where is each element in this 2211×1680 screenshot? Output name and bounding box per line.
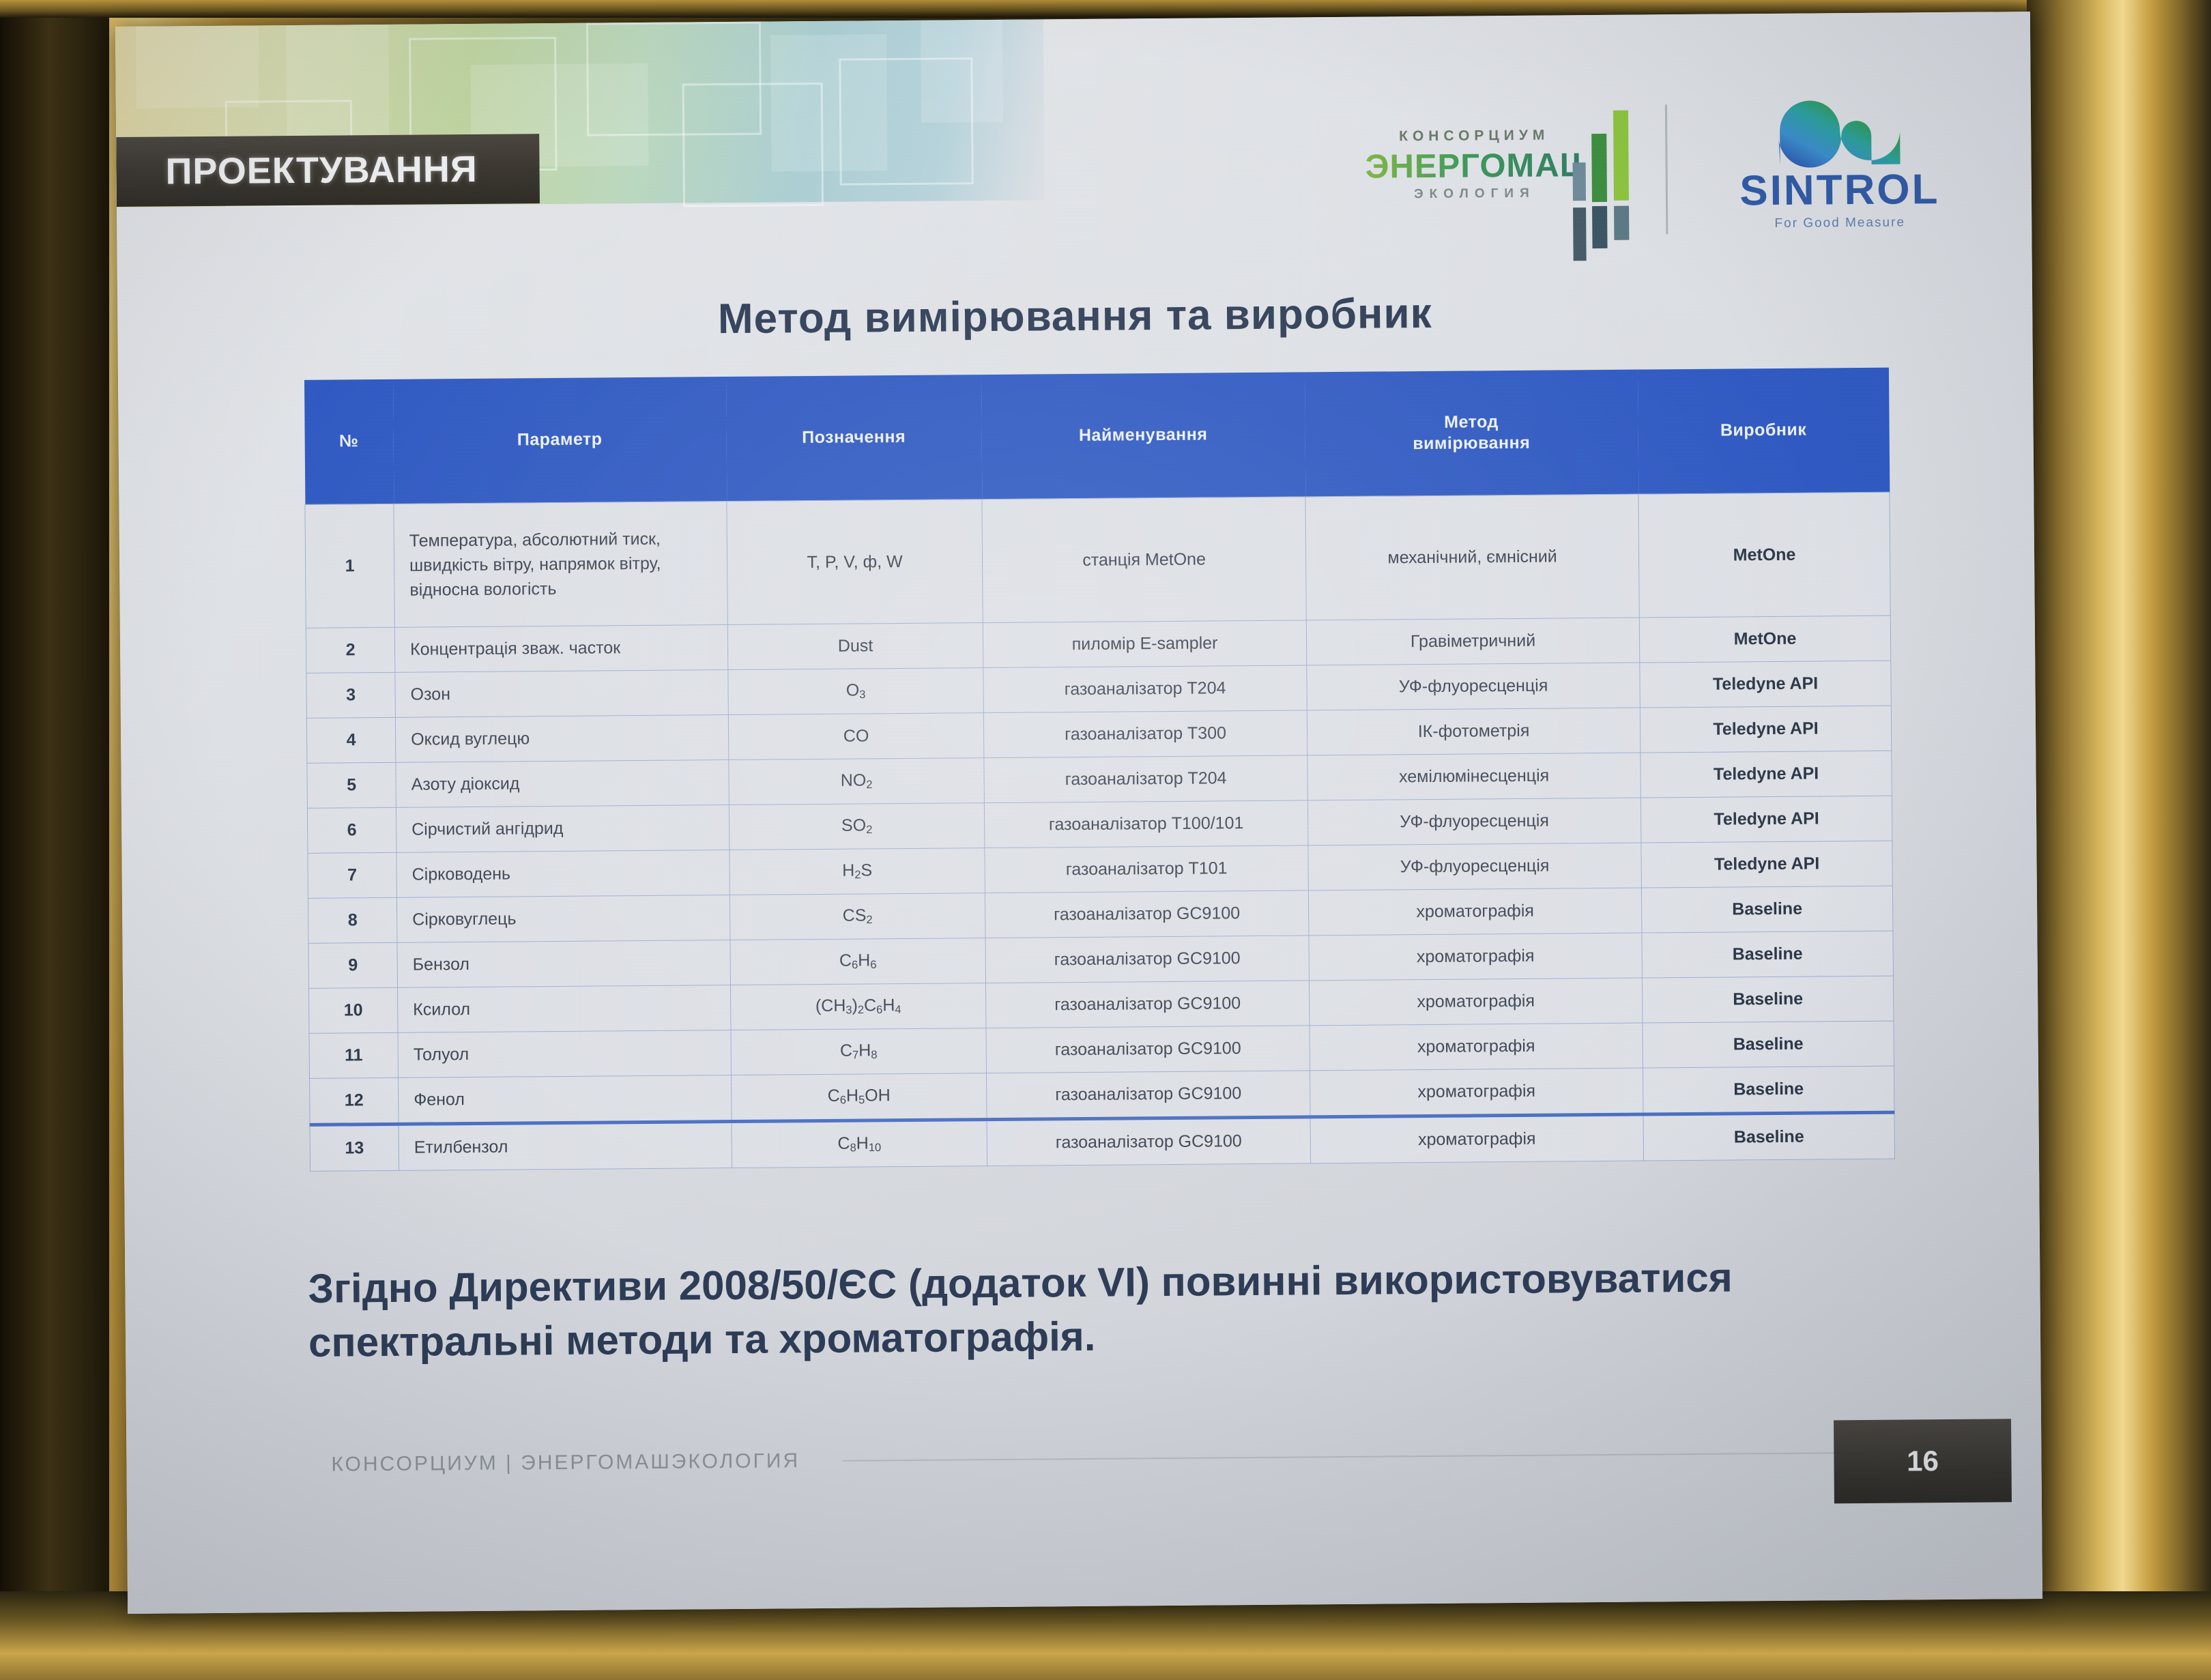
cell-param: Сірковуглець [396, 895, 730, 943]
cell-symbol: H2S [729, 848, 985, 895]
cell-method: хроматографія [1310, 1068, 1643, 1117]
frame-left-edge [0, 0, 109, 1680]
table-body: 1Температура, абсолютний тиск, швидкість… [305, 492, 1895, 1171]
cell-maker: MetOne [1638, 492, 1890, 618]
cell-method: хроматографія [1310, 1023, 1643, 1071]
frame-right-edge [2027, 0, 2211, 1680]
cell-method: УФ-флуоресценція [1308, 843, 1642, 890]
cell-name: газоаналізатор T204 [984, 755, 1308, 803]
presentation-screen: ПРОЕКТУВАННЯ КОНСОРЦИУМ ЭНЕРГОМАШ ЭКОЛОГ… [115, 12, 2042, 1614]
cell-symbol: NO2 [729, 758, 985, 805]
cell-symbol: CS2 [729, 893, 985, 940]
cell-name: пиломір E-sampler [983, 620, 1307, 668]
energomash-bars-icon [1570, 104, 1653, 248]
cell-name: газоаналізатор GC9100 [985, 936, 1310, 983]
cell-no: 11 [309, 1032, 399, 1078]
cell-maker: Baseline [1642, 976, 1894, 1023]
page-number-badge: 16 [1834, 1419, 2012, 1503]
cell-symbol: C6H6 [730, 938, 986, 985]
projected-slide-photo: ПРОЕКТУВАННЯ КОНСОРЦИУМ ЭНЕРГОМАШ ЭКОЛОГ… [0, 0, 2211, 1680]
cell-param: Концентрація зваж. часток [394, 625, 728, 673]
cell-param: Ксилол [397, 985, 731, 1033]
slide-section-ribbon: ПРОЕКТУВАННЯ [116, 134, 540, 207]
cell-maker: MetOne [1639, 615, 1891, 663]
energomash-ecology-label: ЭКОЛОГИЯ [1372, 186, 1577, 202]
cell-method: хроматографія [1308, 888, 1642, 936]
cell-maker: Teledyne API [1641, 751, 1892, 798]
energomash-konsorcium-label: КОНСОРЦИУМ [1372, 127, 1576, 145]
cell-maker: Teledyne API [1640, 706, 1892, 753]
column-header-maker: Виробник [1637, 368, 1889, 494]
sintrol-wordmark: SINTROL [1717, 165, 1963, 216]
cell-maker: Baseline [1643, 1021, 1894, 1068]
sintrol-tagline: For Good Measure [1717, 215, 1963, 232]
cell-param: Озон [395, 670, 729, 718]
cell-no: 5 [307, 762, 396, 808]
cell-maker: Baseline [1643, 1112, 1895, 1161]
cell-no: 8 [308, 897, 397, 943]
cell-no: 6 [307, 807, 396, 853]
cell-symbol: C7H8 [731, 1028, 987, 1075]
cell-no: 9 [308, 942, 398, 988]
cell-symbol: T, P, V, ф, W [727, 499, 983, 625]
cell-symbol: C8H10 [732, 1120, 987, 1168]
cell-no: 12 [310, 1077, 399, 1125]
cell-name: газоаналізатор T204 [983, 665, 1307, 713]
energomash-logo: КОНСОРЦИУМ ЭНЕРГОМАШ ЭКОЛОГИЯ [1365, 95, 1653, 254]
cell-param: Сірководень [396, 850, 730, 898]
cell-name: газоаналізатор GC9100 [985, 981, 1310, 1028]
cell-name: газоаналізатор T100/101 [984, 800, 1308, 848]
table-head: № Параметр Позначення Найменування Метод… [304, 368, 1889, 505]
energomash-wordmark: ЭНЕРГОМАШ [1365, 146, 1583, 186]
cell-maker: Baseline [1642, 931, 1894, 978]
cell-param: Оксид вуглецю [395, 715, 729, 763]
conclusion-text: Згідно Директиви 2008/50/ЄС (додаток VI)… [308, 1249, 1892, 1370]
cell-param: Етилбензол [399, 1122, 732, 1171]
cell-method: УФ-флуоресценція [1307, 663, 1641, 710]
cell-method: хроматографія [1310, 1114, 1644, 1163]
cell-method: Гравіметричний [1306, 618, 1640, 665]
column-header-param: Параметр [392, 377, 726, 504]
cell-no: 1 [305, 504, 394, 628]
cell-method: хемілюмінесценція [1307, 753, 1641, 800]
measurement-table: № Параметр Позначення Найменування Метод… [304, 368, 1895, 1172]
cell-param: Толуол [398, 1030, 732, 1078]
cell-param: Сірчистий ангідрид [396, 805, 729, 853]
cell-param: Бензол [397, 940, 731, 988]
sintrol-logo: SINTROL For Good Measure [1716, 87, 1963, 260]
cell-maker: Teledyne API [1640, 661, 1892, 708]
cell-method: механічний, ємнісний [1305, 494, 1639, 620]
cell-name: газоаналізатор T101 [985, 845, 1309, 893]
table-row: 1Температура, абсолютний тиск, швидкість… [305, 492, 1890, 628]
sintrol-arch-icon [1754, 87, 1925, 171]
table-header-row: № Параметр Позначення Найменування Метод… [304, 368, 1889, 505]
cell-symbol: (CH3)2C6H4 [730, 983, 986, 1030]
cell-maker: Teledyne API [1641, 841, 1893, 888]
cell-symbol: O3 [728, 668, 984, 715]
section-title: ПРОЕКТУВАННЯ [116, 148, 478, 193]
cell-name: станція MetOne [982, 497, 1306, 623]
cell-name: газоаналізатор T300 [983, 710, 1307, 758]
cell-symbol: SO2 [729, 803, 985, 850]
column-header-method-line2: вимірювання [1305, 432, 1637, 456]
cell-maker: Baseline [1641, 886, 1893, 933]
cell-param: Температура, абсолютний тиск, швидкість … [394, 502, 727, 628]
cell-no: 10 [308, 987, 398, 1033]
cell-param: Фенол [399, 1075, 732, 1125]
column-header-method: Метод вимірювання [1304, 370, 1638, 497]
cell-name: газоаналізатор GC9100 [986, 1026, 1310, 1073]
footer-rule [842, 1452, 1901, 1462]
cell-method: хроматографія [1309, 933, 1643, 981]
cell-no: 2 [306, 627, 395, 673]
column-header-symbol: Позначення [725, 375, 981, 501]
cell-name: газоаналізатор GC9100 [987, 1117, 1311, 1166]
cell-maker: Teledyne API [1641, 796, 1892, 843]
cell-symbol: C6H5OH [732, 1073, 987, 1122]
column-header-method-line1: Метод [1305, 410, 1637, 434]
column-header-name: Найменування [981, 372, 1305, 499]
cell-no: 3 [306, 672, 396, 718]
measurement-table-wrapper: № Параметр Позначення Найменування Метод… [304, 368, 1886, 1172]
cell-name: газоаналізатор GC9100 [986, 1071, 1310, 1120]
cell-no: 13 [310, 1124, 399, 1171]
cell-maker: Baseline [1643, 1066, 1894, 1114]
cell-name: газоаналізатор GC9100 [985, 890, 1309, 938]
cell-method: ІК-фотометрія [1307, 708, 1641, 755]
column-header-no: № [304, 379, 393, 505]
cell-symbol: CO [728, 713, 984, 760]
cell-param: Азоту діоксид [396, 760, 729, 808]
cell-method: хроматографія [1309, 978, 1643, 1026]
cell-no: 4 [306, 717, 396, 763]
footer-brand: КОНСОРЦИУМ | ЭНЕРГОМАШЭКОЛОГИЯ [331, 1449, 800, 1476]
cell-method: УФ-флуоресценція [1307, 798, 1641, 845]
cell-symbol: Dust [727, 623, 983, 670]
cell-no: 7 [308, 852, 397, 898]
